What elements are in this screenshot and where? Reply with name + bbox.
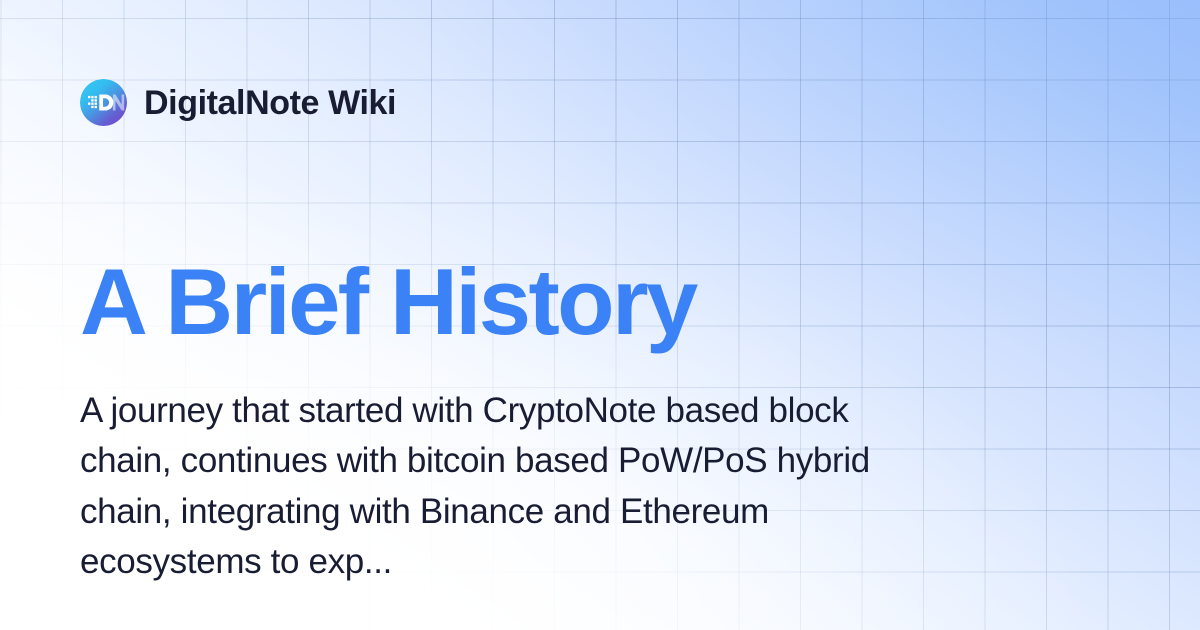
brand-row: DigitalNote Wiki xyxy=(80,79,396,126)
card-content: DigitalNote Wiki A Brief History A journ… xyxy=(0,0,1200,630)
digitalnote-dn-circle-logo-icon xyxy=(80,79,127,126)
og-card: DigitalNote Wiki A Brief History A journ… xyxy=(0,0,1200,630)
page-description: A journey that started with CryptoNote b… xyxy=(80,386,870,588)
page-title: A Brief History xyxy=(80,253,696,351)
brand-name: DigitalNote Wiki xyxy=(144,86,396,120)
